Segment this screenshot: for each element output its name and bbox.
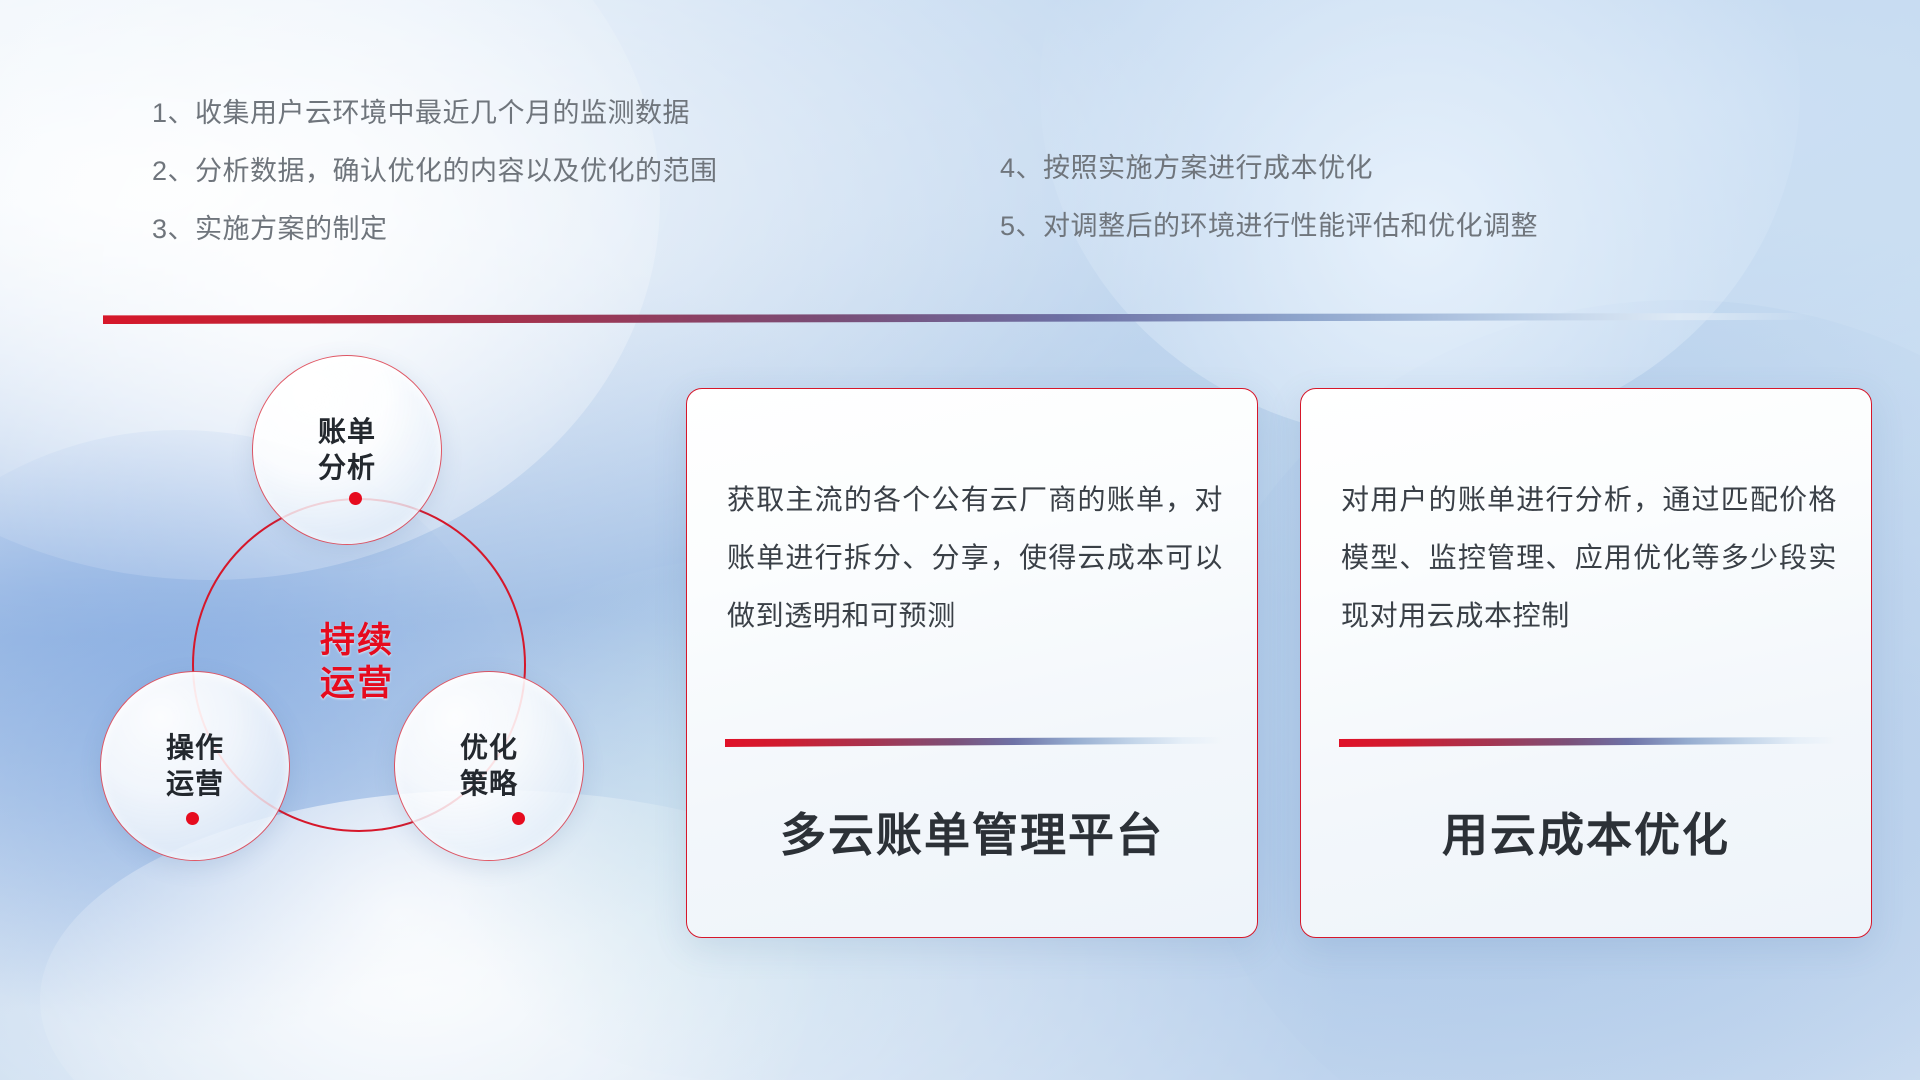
step-item: 5、对调整后的环境进行性能评估和优化调整 bbox=[1000, 213, 1538, 240]
step-item: 1、收集用户云环境中最近几个月的监测数据 bbox=[152, 100, 718, 127]
diagram-node-label-line1: 操作 bbox=[166, 730, 224, 766]
step-item: 3、实施方案的制定 bbox=[152, 216, 718, 243]
diagram-node-label-line2: 运营 bbox=[166, 766, 224, 802]
card-divider bbox=[1339, 737, 1837, 747]
diagram-node-label-line1: 优化 bbox=[460, 730, 518, 766]
card-title: 多云账单管理平台 bbox=[687, 799, 1257, 865]
step-item: 4、按照实施方案进行成本优化 bbox=[1000, 155, 1538, 182]
steps-list-right: 4、按照实施方案进行成本优化 5、对调整后的环境进行性能评估和优化调整 bbox=[1000, 155, 1538, 271]
feature-card-cost-optimization[interactable]: 对用户的账单进行分析，通过匹配价格模型、监控管理、应用优化等多少段实现对用云成本… bbox=[1300, 388, 1872, 938]
diagram-node-operations[interactable]: 操作 运营 bbox=[100, 671, 290, 861]
diagram-node-label: 优化 策略 bbox=[460, 730, 518, 802]
diagram-node-bill-analysis[interactable]: 账单 分析 bbox=[252, 355, 442, 545]
feature-card-multicloud-billing[interactable]: 获取主流的各个公有云厂商的账单，对账单进行拆分、分享，使得云成本可以做到透明和可… bbox=[686, 388, 1258, 938]
diagram-node-dot bbox=[186, 812, 199, 825]
steps-list-left: 1、收集用户云环境中最近几个月的监测数据 2、分析数据，确认优化的内容以及优化的… bbox=[152, 100, 718, 274]
card-title: 用云成本优化 bbox=[1301, 799, 1871, 865]
diagram-node-label: 账单 分析 bbox=[318, 414, 376, 486]
slide-canvas: 1、收集用户云环境中最近几个月的监测数据 2、分析数据，确认优化的内容以及优化的… bbox=[0, 0, 1920, 1080]
continuous-operation-diagram: 持续 运营 账单 分析 操作 运营 优化 策略 bbox=[100, 355, 630, 925]
diagram-node-optimization-strategy[interactable]: 优化 策略 bbox=[394, 671, 584, 861]
diagram-node-dot bbox=[349, 492, 362, 505]
card-body-text: 获取主流的各个公有云厂商的账单，对账单进行拆分、分享，使得云成本可以做到透明和可… bbox=[727, 471, 1223, 646]
card-body-text: 对用户的账单进行分析，通过匹配价格模型、监控管理、应用优化等多少段实现对用云成本… bbox=[1341, 471, 1837, 646]
card-divider bbox=[725, 737, 1223, 747]
step-item: 2、分析数据，确认优化的内容以及优化的范围 bbox=[152, 158, 718, 185]
diagram-node-label-line1: 账单 bbox=[318, 414, 376, 450]
diagram-node-dot bbox=[512, 812, 525, 825]
diagram-node-label-line2: 策略 bbox=[460, 766, 518, 802]
diagram-node-label: 操作 运营 bbox=[166, 730, 224, 802]
diagram-node-label-line2: 分析 bbox=[318, 450, 376, 486]
section-divider bbox=[103, 313, 1815, 324]
